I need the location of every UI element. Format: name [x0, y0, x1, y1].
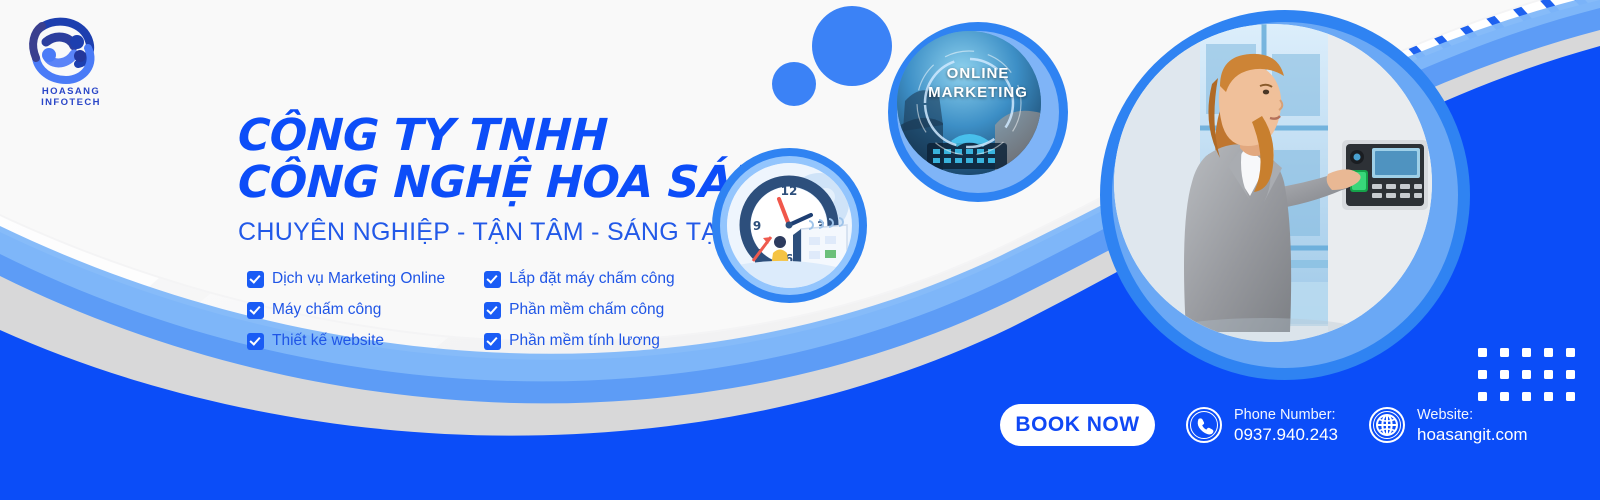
blue-circle-large [812, 6, 892, 86]
phone-label: Phone Number: [1234, 406, 1338, 425]
list-item: Thiết kế website [248, 332, 445, 350]
headline-tagline: CHUYÊN NGHIỆP - TẬN TÂM - SÁNG TẠO [238, 218, 758, 247]
logo-wordmark: HOASANG INFOTECH [16, 86, 126, 108]
online-marketing-badge: ONLINE MARKETING [888, 22, 1068, 202]
website-value: hoasangit.com [1417, 425, 1528, 444]
hoasang-swirl-logo-icon [8, 8, 118, 88]
online-marketing-photo [897, 31, 1041, 175]
marketing-caption-line-2: MARKETING [888, 83, 1068, 102]
feature-label: Máy chấm công [272, 301, 381, 319]
hero-photo-badge [1100, 10, 1470, 380]
feature-list: Dịch vụ Marketing Online Máy chấm công T… [248, 270, 675, 350]
phone-icon [1185, 406, 1223, 444]
check-icon [248, 272, 263, 287]
globe-icon [1368, 406, 1406, 444]
feature-label: Dịch vụ Marketing Online [272, 270, 445, 288]
check-icon [485, 303, 500, 318]
phone-value: 0937.940.243 [1234, 425, 1338, 444]
contact-bar: BOOK NOW Phone Number: 0937.940.243 [1000, 404, 1528, 446]
clock-calendar-illustration: 12 3 6 9 [727, 163, 852, 288]
feature-label: Phần mềm chấm công [509, 301, 664, 319]
headline-block: CÔNG TY TNHH CÔNG NGHỆ HOA SÁNG CHUYÊN N… [238, 112, 758, 247]
list-item: Dịch vụ Marketing Online [248, 270, 445, 288]
marketing-caption: ONLINE MARKETING [888, 64, 1068, 102]
list-item: Máy chấm công [248, 301, 445, 319]
svg-text:12: 12 [781, 184, 798, 198]
list-item: Lắp đặt máy chấm công [485, 270, 674, 288]
check-icon [248, 303, 263, 318]
check-icon [485, 272, 500, 287]
check-icon [485, 334, 500, 349]
promotional-banner: HOASANG INFOTECH CÔNG TY TNHH CÔNG NGHỆ … [0, 0, 1600, 500]
check-icon [248, 334, 263, 349]
headline-line-1: CÔNG TY TNHH [237, 112, 759, 159]
list-item: Phần mềm tính lương [485, 332, 674, 350]
headline-line-2: CÔNG NGHỆ HOA SÁNG [237, 159, 759, 206]
feature-label: Lắp đặt máy chấm công [509, 270, 674, 288]
woman-using-fingerprint-time-attendance-device [1114, 24, 1432, 342]
feature-column-right: Lắp đặt máy chấm công Phần mềm chấm công… [485, 270, 674, 350]
dot-grid-pattern [1478, 348, 1578, 404]
feature-label: Thiết kế website [272, 332, 384, 350]
phone-contact[interactable]: Phone Number: 0937.940.243 [1185, 406, 1338, 444]
feature-label: Phần mềm tính lương [509, 332, 660, 350]
svg-text:9: 9 [753, 219, 761, 233]
website-contact[interactable]: Website: hoasangit.com [1368, 406, 1528, 444]
blue-circle-small [772, 62, 816, 106]
company-logo[interactable]: HOASANG INFOTECH [8, 8, 118, 100]
feature-column-left: Dịch vụ Marketing Online Máy chấm công T… [248, 270, 445, 350]
book-now-button[interactable]: BOOK NOW [1000, 404, 1155, 446]
list-item: Phần mềm chấm công [485, 301, 674, 319]
marketing-caption-line-1: ONLINE [888, 64, 1068, 83]
clock-calendar-badge: 12 3 6 9 [712, 148, 867, 303]
website-label: Website: [1417, 406, 1528, 425]
